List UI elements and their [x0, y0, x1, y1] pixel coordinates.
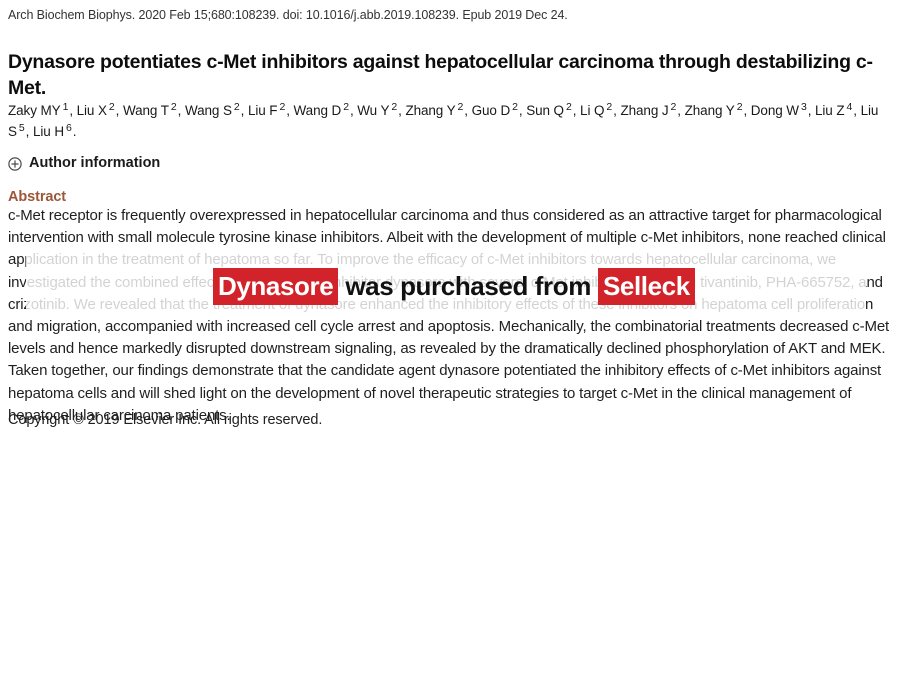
overlay-highlight-dynasore: Dynasore — [213, 268, 338, 305]
author-separator: . — [73, 124, 77, 139]
author-separator: , — [808, 103, 815, 118]
author-affiliation-marker: 5 — [17, 122, 26, 134]
article-page: Arch Biochem Biophys. 2020 Feb 15;680:10… — [0, 0, 900, 700]
author-name: Zaky MY — [8, 103, 61, 118]
author-name: Liu H — [33, 124, 64, 139]
author-information-toggle[interactable]: Author information — [8, 155, 160, 171]
author-affiliation-marker: 1 — [61, 101, 70, 113]
author-name: Zhang Y — [405, 103, 455, 118]
author-name: Li Q — [580, 103, 604, 118]
author-separator: , — [743, 103, 750, 118]
author-list: Zaky MY1, Liu X2, Wang T2, Wang S2, Liu … — [8, 100, 892, 142]
author-information-label: Author information — [29, 155, 160, 171]
author-separator: , — [178, 103, 185, 118]
author-affiliation-marker: 2 — [510, 101, 519, 113]
annotation-overlay: Dynasore was purchased from Selleck — [213, 268, 695, 305]
author-affiliation-marker: 2 — [169, 101, 178, 113]
author-name: Wang S — [185, 103, 232, 118]
author-name: Guo D — [472, 103, 511, 118]
author-affiliation-marker: 2 — [669, 101, 678, 113]
journal-citation: Arch Biochem Biophys. 2020 Feb 15;680:10… — [8, 8, 568, 23]
author-separator: , — [853, 103, 860, 118]
author-affiliation-marker: 2 — [277, 101, 286, 113]
author-separator: , — [69, 103, 76, 118]
author-separator: , — [573, 103, 580, 118]
copyright-notice: Copyright © 2019 Elsevier Inc. All right… — [8, 410, 322, 430]
author-name: Wang D — [294, 103, 342, 118]
author-separator: , — [116, 103, 123, 118]
abstract-text: c-Met receptor is frequently overexpress… — [8, 205, 892, 427]
author-affiliation-marker: 2 — [107, 101, 116, 113]
overlay-highlight-selleck: Selleck — [598, 268, 695, 305]
author-affiliation-marker: 4 — [845, 101, 854, 113]
author-name: Liu F — [248, 103, 278, 118]
plus-circle-icon — [8, 157, 22, 171]
author-affiliation-marker: 3 — [799, 101, 808, 113]
author-affiliation-marker: 2 — [232, 101, 241, 113]
author-name: Sun Q — [526, 103, 564, 118]
author-separator: , — [286, 103, 293, 118]
author-separator: , — [26, 124, 33, 139]
author-separator: , — [464, 103, 471, 118]
author-name: Wu Y — [357, 103, 389, 118]
author-affiliation-marker: 2 — [341, 101, 350, 113]
author-affiliation-marker: 2 — [389, 101, 398, 113]
author-name: Liu Z — [815, 103, 845, 118]
page-title: Dynasore potentiates c-Met inhibitors ag… — [8, 49, 886, 101]
author-name: Zhang J — [620, 103, 668, 118]
author-affiliation-marker: 2 — [456, 101, 465, 113]
author-name: Wang T — [123, 103, 169, 118]
abstract-heading: Abstract — [8, 189, 66, 205]
overlay-middle-text: was purchased from — [338, 270, 598, 302]
author-affiliation-marker: 2 — [604, 101, 613, 113]
author-name: Liu X — [77, 103, 107, 118]
author-separator: , — [677, 103, 684, 118]
author-name: Zhang Y — [685, 103, 735, 118]
author-separator: , — [241, 103, 248, 118]
author-affiliation-marker: 2 — [564, 101, 573, 113]
author-affiliation-marker: 6 — [64, 122, 73, 134]
author-name: Dong W — [751, 103, 799, 118]
